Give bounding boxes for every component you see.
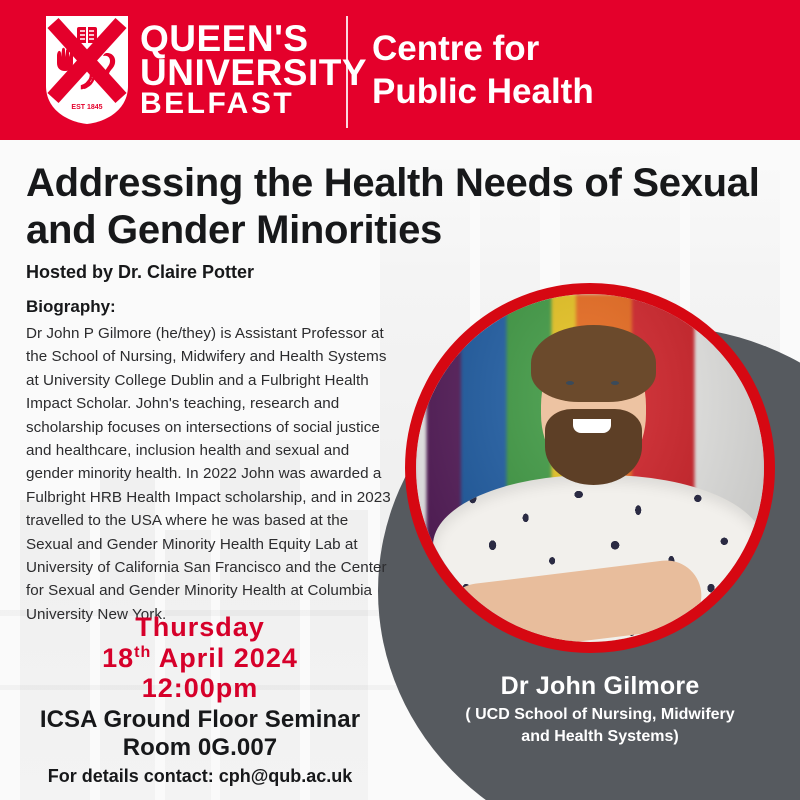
event-date-ordinal: th <box>134 644 151 661</box>
biography-text: Dr John P Gilmore (he/they) is Assistant… <box>26 322 396 626</box>
centre-line-1: Centre for <box>372 28 594 71</box>
wordmark-line-2: UNIVERSITY <box>140 56 367 90</box>
event-date: 18th April 2024 <box>0 643 400 674</box>
hair <box>531 325 656 402</box>
speaker-affiliation: ( UCD School of Nursing, Midwifery and H… <box>400 704 800 747</box>
seminar-poster: EST 1845 QUEEN'S UNIVERSITY BELFAST Cent… <box>0 0 800 800</box>
event-time: 12:00pm <box>0 673 400 704</box>
wordmark-line-1: QUEEN'S <box>140 22 367 56</box>
eye-right-icon <box>611 381 619 385</box>
speaker-name: Dr John Gilmore <box>400 672 800 701</box>
speaker-caption: Dr John Gilmore ( UCD School of Nursing,… <box>400 672 800 747</box>
contact-line[interactable]: For details contact: cph@qub.ac.uk <box>0 766 400 787</box>
header-divider <box>346 16 348 128</box>
venue-line-1: ICSA Ground Floor Seminar <box>0 706 400 734</box>
event-venue: ICSA Ground Floor Seminar Room 0G.007 <box>0 706 400 762</box>
affiliation-line-2: and Health Systems) <box>400 726 800 748</box>
brand-header: EST 1845 QUEEN'S UNIVERSITY BELFAST Cent… <box>0 0 800 140</box>
centre-name: Centre for Public Health <box>372 28 594 113</box>
wordmark-line-3: BELFAST <box>140 90 367 118</box>
venue-line-2: Room 0G.007 <box>0 734 400 762</box>
portrait-photo <box>416 294 764 642</box>
university-wordmark: QUEEN'S UNIVERSITY BELFAST <box>140 22 367 118</box>
queens-university-crest-icon: EST 1845 <box>44 14 130 126</box>
event-date-number: 18 <box>102 643 134 673</box>
affiliation-line-1: ( UCD School of Nursing, Midwifery <box>400 704 800 726</box>
smile <box>573 419 611 433</box>
speaker-portrait <box>405 283 775 653</box>
eye-left-icon <box>566 381 574 385</box>
event-details: Thursday 18th April 2024 12:00pm ICSA Gr… <box>0 612 400 787</box>
page-title: Addressing the Health Needs of Sexual an… <box>26 160 768 254</box>
event-date-rest: April 2024 <box>159 643 298 673</box>
event-day: Thursday <box>0 612 400 643</box>
svg-text:EST 1845: EST 1845 <box>71 104 102 111</box>
biography-label: Biography: <box>26 297 116 317</box>
centre-line-2: Public Health <box>372 71 594 114</box>
hosted-by: Hosted by Dr. Claire Potter <box>26 262 254 283</box>
